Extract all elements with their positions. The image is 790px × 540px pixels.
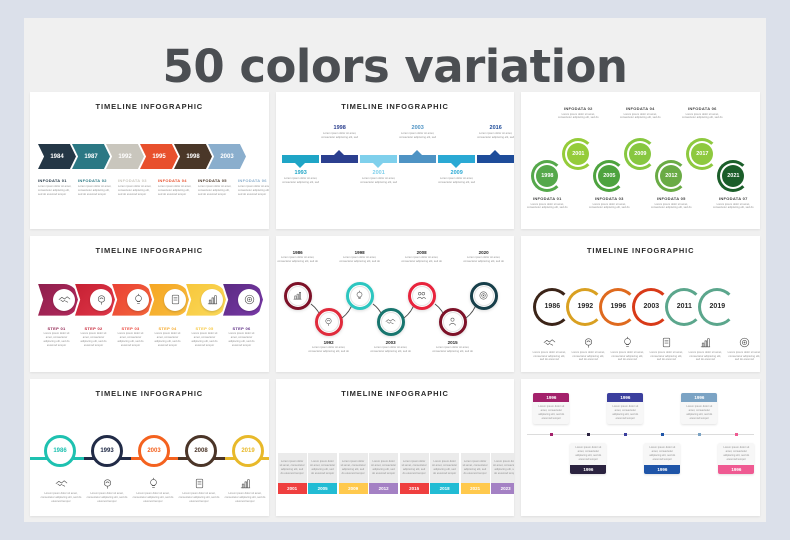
disc-year: 2005 — [603, 173, 615, 179]
bar-step[interactable] — [360, 155, 397, 163]
card-interlocking-rings-timeline[interactable]: TIMELINE INFOGRAPHIC 1986199219962003201… — [521, 236, 760, 373]
caption-label: INFODATA 01 — [524, 196, 570, 201]
bar-text: Lorem ipsum dolor sit amet, consectetur … — [320, 132, 360, 140]
line-ring-captions: Lorem ipsum dolor sit amet, consectetur … — [40, 477, 269, 504]
column-text: Lorem ipsum dolor sit amet, consectetur … — [371, 460, 396, 476]
disc-year: 2009 — [634, 151, 646, 157]
chevron-step[interactable]: 1992 — [106, 144, 144, 169]
bar-year: 2009 — [437, 170, 477, 176]
caption-label: INFODATA 06 — [679, 106, 725, 111]
bar-text: Lorem ipsum dolor sit amet, consectetur … — [437, 177, 477, 185]
ring-year: 2019 — [710, 303, 726, 310]
chevron-captions: INFODATA 01Lorem ipsum dolor sit amet, c… — [38, 178, 269, 197]
ribbon-step[interactable] — [112, 284, 152, 316]
ring-text: Lorem ipsum dolor sit amet, consectetur … — [132, 492, 174, 504]
timeline-dot — [735, 433, 738, 436]
bar-caption: 2016Lorem ipsum dolor sit amet, consecte… — [476, 125, 515, 140]
ribbon-row — [38, 284, 260, 316]
column-year: 2001 — [278, 483, 307, 494]
caption-label: INFODATA 05 — [648, 196, 694, 201]
line-ring[interactable]: 2003 — [138, 435, 170, 467]
caption-label: INFODATA 01 — [38, 178, 72, 183]
zigzag-node[interactable] — [470, 282, 498, 310]
document-icon — [169, 293, 182, 306]
line-ring[interactable]: 2019 — [232, 435, 264, 467]
chevron-year: 1992 — [118, 154, 131, 160]
step-label: STEP 05 — [188, 326, 221, 331]
ribbon-caption: STEP 04Lorem ipsum dolor sit amet, conse… — [151, 326, 184, 348]
zigzag-text: Lorem ipsum dolor sit amet, consectetur … — [463, 256, 505, 264]
ring-text: Lorem ipsum dolor sit amet, consectetur … — [726, 351, 760, 363]
chevron-step[interactable]: 1995 — [140, 144, 178, 169]
line-ring-caption: Lorem ipsum dolor sit amet, consectetur … — [40, 477, 82, 504]
caption-label: INFODATA 06 — [238, 178, 269, 183]
caption-text: Lorem ipsum dolor sit amet, consectetur … — [586, 203, 632, 211]
card-title: TIMELINE INFOGRAPHIC — [30, 389, 269, 398]
presentation-sheet: 50 colors variation TIMELINE INFOGRAPHIC… — [24, 18, 766, 522]
step-text: Lorem ipsum dolor sit amet, consectetur … — [40, 332, 73, 348]
caption-label: INFODATA 02 — [78, 178, 112, 183]
bar-text: Lorem ipsum dolor sit amet, consectetur … — [398, 132, 438, 140]
bubble-year: 1996 — [533, 393, 569, 402]
line-ring-caption: Lorem ipsum dolor sit amet, consectetur … — [178, 477, 220, 504]
card-green-circles-timeline[interactable]: 1998INFODATA 01Lorem ipsum dolor sit ame… — [521, 92, 760, 229]
timeline-dot — [624, 433, 627, 436]
chevron-year: 2003 — [220, 154, 233, 160]
column-step[interactable]: Lorem ipsum dolor sit amet, consectetur … — [369, 453, 398, 494]
zigzag-caption: 1998Lorem ipsum dolor sit amet, consecte… — [339, 250, 381, 264]
chart-icon — [292, 290, 303, 301]
bubble-text: Lorem ipsum dolor sit amet, consectetur … — [647, 446, 678, 462]
chevron-row: 198419871992199519982003 — [38, 144, 242, 169]
ring-text: Lorem ipsum dolor sit amet, consectetur … — [648, 351, 684, 363]
chevron-caption: INFODATA 03Lorem ipsum dolor sit amet, c… — [118, 178, 152, 197]
callout-bubble[interactable]: 1996Lorem ipsum dolor sit amet, consecte… — [607, 393, 643, 424]
target-icon — [738, 336, 751, 349]
bar-caption: 2009Lorem ipsum dolor sit amet, consecte… — [437, 170, 477, 185]
bar-step[interactable] — [399, 155, 436, 163]
ring-year: 2008 — [194, 448, 207, 454]
bar-step[interactable] — [477, 155, 514, 163]
column-year: 2018 — [430, 483, 459, 494]
zigzag-year: 1992 — [308, 340, 350, 345]
callout-bubble[interactable]: Lorem ipsum dolor sit amet, consectetur … — [570, 443, 606, 474]
step-label: STEP 04 — [151, 326, 184, 331]
bubble-year: 1996 — [644, 465, 680, 474]
zigzag-year: 1986 — [277, 250, 319, 255]
line-ring-caption: Lorem ipsum dolor sit amet, consectetur … — [224, 477, 266, 504]
ribbon-caption: STEP 01Lorem ipsum dolor sit amet, conse… — [40, 326, 73, 348]
disc-year: 2021 — [727, 173, 739, 179]
disc-year: 2012 — [665, 173, 677, 179]
lightbulb-icon — [132, 293, 145, 306]
card-title: TIMELINE INFOGRAPHIC — [521, 246, 760, 255]
handshake-icon — [55, 477, 68, 490]
column-step[interactable]: Lorem ipsum dolor sit amet, consectetur … — [278, 453, 307, 494]
ring-text: Lorem ipsum dolor sit amet, consectetur … — [224, 492, 266, 504]
step-text: Lorem ipsum dolor sit amet, consectetur … — [114, 332, 147, 348]
caption-text: Lorem ipsum dolor sit amet, consectetur … — [710, 203, 756, 211]
green-caption: INFODATA 02Lorem ipsum dolor sit amet, c… — [555, 106, 601, 120]
target-icon — [243, 293, 256, 306]
ring-caption: Lorem ipsum dolor sit amet, consectetur … — [726, 336, 760, 363]
ribbon-step[interactable] — [75, 284, 115, 316]
caption-text: Lorem ipsum dolor sit amet, consectetur … — [158, 185, 192, 197]
card-ribbon-steps[interactable]: TIMELINE INFOGRAPHIC STEP 01Lorem ipsum … — [30, 236, 269, 373]
column-step[interactable]: Lorem ipsum dolor sit amet, consectetur … — [461, 453, 490, 494]
bubble-text: Lorem ipsum dolor sit amet, consectetur … — [610, 405, 641, 421]
caption-text: Lorem ipsum dolor sit amet, consectetur … — [198, 185, 232, 197]
zigzag-text: Lorem ipsum dolor sit amet, consectetur … — [308, 346, 350, 354]
bar-year: 1998 — [320, 125, 360, 131]
infographic-grid: TIMELINE INFOGRAPHIC 1984198719921995199… — [30, 92, 760, 516]
column-row: Lorem ipsum dolor sit amet, consectetur … — [278, 453, 515, 494]
chart-icon — [206, 293, 219, 306]
disc-year: 1998 — [541, 173, 553, 179]
zigzag-caption: 2015Lorem ipsum dolor sit amet, consecte… — [432, 340, 474, 354]
disc-year: 2017 — [696, 151, 708, 157]
column-year: 2005 — [308, 483, 337, 494]
zigzag-year: 2003 — [370, 340, 412, 345]
brain-icon — [95, 293, 108, 306]
caption-text: Lorem ipsum dolor sit amet, consectetur … — [679, 113, 725, 121]
step-text: Lorem ipsum dolor sit amet, consectetur … — [225, 332, 258, 348]
zigzag-node[interactable] — [315, 308, 343, 336]
bar-year: 1993 — [281, 170, 321, 176]
zigzag-node[interactable] — [284, 282, 312, 310]
ring-text: Lorem ipsum dolor sit amet, consectetur … — [86, 492, 128, 504]
caption-label: INFODATA 07 — [710, 196, 756, 201]
ring-caption: Lorem ipsum dolor sit amet, consectetur … — [648, 336, 684, 363]
timeline-dot — [587, 433, 590, 436]
column-step[interactable]: Lorem ipsum dolor sit amet, consectetur … — [339, 453, 368, 494]
card-title: TIMELINE INFOGRAPHIC — [276, 102, 515, 111]
step-label: STEP 01 — [40, 326, 73, 331]
brain-icon — [101, 477, 114, 490]
zigzag-year: 2020 — [463, 250, 505, 255]
line-ring-caption: Lorem ipsum dolor sit amet, consectetur … — [132, 477, 174, 504]
green-caption: INFODATA 07Lorem ipsum dolor sit amet, c… — [710, 196, 756, 210]
team-icon — [416, 290, 427, 301]
ribbon-step[interactable] — [223, 284, 263, 316]
bar-year: 2003 — [398, 125, 438, 131]
ring-text: Lorem ipsum dolor sit amet, consectetur … — [178, 492, 220, 504]
chevron-year: 1998 — [186, 154, 199, 160]
bubble-year: 1996 — [681, 393, 717, 402]
ring-text: Lorem ipsum dolor sit amet, consectetur … — [687, 351, 723, 363]
column-step[interactable]: Lorem ipsum dolor sit amet, consectetur … — [430, 453, 459, 494]
card-title: TIMELINE INFOGRAPHIC — [276, 389, 515, 398]
zigzag-text: Lorem ipsum dolor sit amet, consectetur … — [432, 346, 474, 354]
caption-label: INFODATA 03 — [586, 196, 632, 201]
zigzag-year: 2008 — [401, 250, 443, 255]
open-ring[interactable]: 1992 — [566, 288, 604, 326]
card-zigzag-timeline[interactable]: 1986Lorem ipsum dolor sit amet, consecte… — [276, 236, 515, 373]
column-text: Lorem ipsum dolor sit amet, consectetur … — [280, 460, 305, 476]
card-column-timeline[interactable]: TIMELINE INFOGRAPHIC Lorem ipsum dolor s… — [276, 379, 515, 516]
column-text: Lorem ipsum dolor sit amet, consectetur … — [493, 460, 514, 476]
open-ring[interactable]: 1996 — [599, 288, 637, 326]
column-year: 2021 — [461, 483, 490, 494]
chevron-step[interactable]: 1987 — [72, 144, 110, 169]
column-year: 2009 — [339, 483, 368, 494]
caption-text: Lorem ipsum dolor sit amet, consectetur … — [38, 185, 72, 197]
ribbon-caption: STEP 06Lorem ipsum dolor sit amet, conse… — [225, 326, 258, 348]
ring-year: 1996 — [611, 303, 627, 310]
column-text: Lorem ipsum dolor sit amet, consectetur … — [463, 460, 488, 476]
ribbon-caption: STEP 03Lorem ipsum dolor sit amet, conse… — [114, 326, 147, 348]
zigzag-text: Lorem ipsum dolor sit amet, consectetur … — [277, 256, 319, 264]
card-bar-timeline[interactable]: TIMELINE INFOGRAPHIC 1993Lorem ipsum dol… — [276, 92, 515, 229]
chevron-step[interactable]: 1998 — [174, 144, 212, 169]
caption-text: Lorem ipsum dolor sit amet, consectetur … — [78, 185, 112, 197]
caption-label: INFODATA 04 — [158, 178, 192, 183]
bar-row — [282, 155, 514, 163]
bubble-text: Lorem ipsum dolor sit amet, consectetur … — [536, 405, 567, 421]
timeline-dot — [661, 433, 664, 436]
column-text: Lorem ipsum dolor sit amet, consectetur … — [341, 460, 366, 476]
zigzag-node[interactable] — [346, 282, 374, 310]
zigzag-node[interactable] — [408, 282, 436, 310]
zigzag-text: Lorem ipsum dolor sit amet, consectetur … — [370, 346, 412, 354]
caption-text: Lorem ipsum dolor sit amet, consectetur … — [238, 185, 269, 197]
chart-icon — [699, 336, 712, 349]
ring-caption: Lorem ipsum dolor sit amet, consectetur … — [609, 336, 645, 363]
bar-year: 2016 — [476, 125, 515, 131]
lightbulb-icon — [147, 477, 160, 490]
step-label: STEP 02 — [77, 326, 110, 331]
zigzag-text: Lorem ipsum dolor sit amet, consectetur … — [339, 256, 381, 264]
ribbon-step[interactable] — [149, 284, 189, 316]
bubble-year: 1996 — [607, 393, 643, 402]
ring-text: Lorem ipsum dolor sit amet, consectetur … — [570, 351, 606, 363]
ribbon-step[interactable] — [186, 284, 226, 316]
person-icon — [447, 316, 458, 327]
ring-text: Lorem ipsum dolor sit amet, consectetur … — [609, 351, 645, 363]
lightbulb-icon — [621, 336, 634, 349]
page-title: 50 colors variation — [24, 40, 766, 93]
zigzag-caption: 2003Lorem ipsum dolor sit amet, consecte… — [370, 340, 412, 354]
bar-caption: 1998Lorem ipsum dolor sit amet, consecte… — [320, 125, 360, 140]
zigzag-node[interactable] — [439, 308, 467, 336]
caption-text: Lorem ipsum dolor sit amet, consectetur … — [648, 203, 694, 211]
card-line-rings-timeline[interactable]: TIMELINE INFOGRAPHIC 1986199320032008201… — [30, 379, 269, 516]
callout-bubble[interactable]: 1996Lorem ipsum dolor sit amet, consecte… — [533, 393, 569, 424]
chevron-caption: INFODATA 01Lorem ipsum dolor sit amet, c… — [38, 178, 72, 197]
callout-bubble[interactable]: Lorem ipsum dolor sit amet, consectetur … — [644, 443, 680, 474]
brain-icon — [323, 316, 334, 327]
card-chevron-timeline[interactable]: TIMELINE INFOGRAPHIC 1984198719921995199… — [30, 92, 269, 229]
handshake-icon — [58, 293, 71, 306]
line-ring[interactable]: 1993 — [91, 435, 123, 467]
green-caption: INFODATA 01Lorem ipsum dolor sit amet, c… — [524, 196, 570, 210]
timeline-dot — [698, 433, 701, 436]
ring-caption: Lorem ipsum dolor sit amet, consectetur … — [531, 336, 567, 363]
green-caption: INFODATA 03Lorem ipsum dolor sit amet, c… — [586, 196, 632, 210]
step-label: STEP 03 — [114, 326, 147, 331]
caption-text: Lorem ipsum dolor sit amet, consectetur … — [118, 185, 152, 197]
ring-year: 2003 — [644, 303, 660, 310]
bar-caption: 2001Lorem ipsum dolor sit amet, consecte… — [359, 170, 399, 185]
column-text: Lorem ipsum dolor sit amet, consectetur … — [310, 460, 335, 476]
bubble-text: Lorem ipsum dolor sit amet, consectetur … — [684, 405, 715, 421]
zigzag-caption: 1992Lorem ipsum dolor sit amet, consecte… — [308, 340, 350, 354]
step-label: STEP 06 — [225, 326, 258, 331]
chevron-caption: INFODATA 02Lorem ipsum dolor sit amet, c… — [78, 178, 112, 197]
line-ring[interactable]: 1986 — [44, 435, 76, 467]
ribbon-captions: STEP 01Lorem ipsum dolor sit amet, conse… — [40, 326, 262, 348]
ribbon-caption: STEP 02Lorem ipsum dolor sit amet, conse… — [77, 326, 110, 348]
bar-caption: 2003Lorem ipsum dolor sit amet, consecte… — [398, 125, 438, 140]
caption-label: INFODATA 02 — [555, 106, 601, 111]
ring-year: 1992 — [578, 303, 594, 310]
caption-label: INFODATA 05 — [198, 178, 232, 183]
column-year: 2012 — [369, 483, 398, 494]
bar-step[interactable] — [438, 155, 475, 163]
ring-year: 1986 — [545, 303, 561, 310]
caption-label: INFODATA 03 — [118, 178, 152, 183]
column-step[interactable]: Lorem ipsum dolor sit amet, consectetur … — [400, 453, 429, 494]
brain-icon — [582, 336, 595, 349]
green-circle-chain: 1998INFODATA 01Lorem ipsum dolor sit ame… — [521, 92, 760, 229]
chevron-caption: INFODATA 04Lorem ipsum dolor sit amet, c… — [158, 178, 192, 197]
timeline-dot — [550, 433, 553, 436]
step-text: Lorem ipsum dolor sit amet, consectetur … — [77, 332, 110, 348]
chevron-step[interactable]: 1984 — [38, 144, 76, 169]
zigzag-node[interactable] — [377, 308, 405, 336]
zigzag-text: Lorem ipsum dolor sit amet, consectetur … — [401, 256, 443, 264]
bubble-text: Lorem ipsum dolor sit amet, consectetur … — [721, 446, 752, 462]
lightbulb-icon — [354, 290, 365, 301]
zigzag-caption: 1986Lorem ipsum dolor sit amet, consecte… — [277, 250, 319, 264]
chevron-year: 1984 — [50, 154, 63, 160]
ring-year: 1986 — [53, 448, 66, 454]
ring-text: Lorem ipsum dolor sit amet, consectetur … — [531, 351, 567, 363]
bubble-text: Lorem ipsum dolor sit amet, consectetur … — [573, 446, 604, 462]
card-title: TIMELINE INFOGRAPHIC — [30, 102, 269, 111]
green-caption: INFODATA 05Lorem ipsum dolor sit amet, c… — [648, 196, 694, 210]
column-year: 2015 — [400, 483, 429, 494]
bar-year: 2001 — [359, 170, 399, 176]
disc-year: 2001 — [572, 151, 584, 157]
column-year: 2023 — [491, 483, 514, 494]
bar-text: Lorem ipsum dolor sit amet, consectetur … — [281, 177, 321, 185]
chevron-caption: INFODATA 06Lorem ipsum dolor sit amet, c… — [238, 178, 269, 197]
step-text: Lorem ipsum dolor sit amet, consectetur … — [151, 332, 184, 348]
zigzag-caption: 2008Lorem ipsum dolor sit amet, consecte… — [401, 250, 443, 264]
callout-bubble[interactable]: 1996Lorem ipsum dolor sit amet, consecte… — [681, 393, 717, 424]
ring-year: 2011 — [677, 303, 692, 310]
caption-label: INFODATA 04 — [617, 106, 663, 111]
bar-step[interactable] — [321, 155, 358, 163]
timeline-line — [527, 434, 754, 435]
bar-text: Lorem ipsum dolor sit amet, consectetur … — [476, 132, 515, 140]
zigzag-year: 1998 — [339, 250, 381, 255]
bar-text: Lorem ipsum dolor sit amet, consectetur … — [359, 177, 399, 185]
ring-text: Lorem ipsum dolor sit amet, consectetur … — [40, 492, 82, 504]
ring-year: 2019 — [241, 448, 254, 454]
caption-text: Lorem ipsum dolor sit amet, consectetur … — [524, 203, 570, 211]
chevron-year: 1995 — [152, 154, 165, 160]
document-icon — [193, 477, 206, 490]
column-step[interactable]: Lorem ipsum dolor sit amet, consectetur … — [308, 453, 337, 494]
callout-bubble[interactable]: Lorem ipsum dolor sit amet, consectetur … — [718, 443, 754, 474]
ring-year: 1993 — [100, 448, 113, 454]
caption-text: Lorem ipsum dolor sit amet, consectetur … — [617, 113, 663, 121]
target-icon — [478, 290, 489, 301]
ring-year: 2003 — [147, 448, 160, 454]
caption-text: Lorem ipsum dolor sit amet, consectetur … — [555, 113, 601, 121]
column-text: Lorem ipsum dolor sit amet, consectetur … — [432, 460, 457, 476]
bar-caption: 1993Lorem ipsum dolor sit amet, consecte… — [281, 170, 321, 185]
chevron-caption: INFODATA 05Lorem ipsum dolor sit amet, c… — [198, 178, 232, 197]
line-ring-caption: Lorem ipsum dolor sit amet, consectetur … — [86, 477, 128, 504]
document-icon — [660, 336, 673, 349]
handshake-icon — [385, 316, 396, 327]
bubble-year: 1996 — [718, 465, 754, 474]
handshake-icon — [543, 336, 556, 349]
line-ring[interactable]: 2008 — [185, 435, 217, 467]
zigzag-caption: 2020Lorem ipsum dolor sit amet, consecte… — [463, 250, 505, 264]
ribbon-step[interactable] — [38, 284, 78, 316]
open-ring[interactable]: 1986 — [533, 288, 571, 326]
ring-captions: Lorem ipsum dolor sit amet, consectetur … — [531, 336, 760, 363]
zigzag-year: 2015 — [432, 340, 474, 345]
chevron-step[interactable]: 2003 — [208, 144, 246, 169]
ring-caption: Lorem ipsum dolor sit amet, consectetur … — [570, 336, 606, 363]
chart-icon — [239, 477, 252, 490]
green-caption: INFODATA 04Lorem ipsum dolor sit amet, c… — [617, 106, 663, 120]
green-caption: INFODATA 06Lorem ipsum dolor sit amet, c… — [679, 106, 725, 120]
ring-caption: Lorem ipsum dolor sit amet, consectetur … — [687, 336, 723, 363]
bar-step[interactable] — [282, 155, 319, 163]
chevron-year: 1987 — [84, 154, 97, 160]
open-ring[interactable]: 2003 — [632, 288, 670, 326]
bubble-year: 1996 — [570, 465, 606, 474]
step-text: Lorem ipsum dolor sit amet, consectetur … — [188, 332, 221, 348]
card-title: TIMELINE INFOGRAPHIC — [30, 246, 269, 255]
ribbon-caption: STEP 05Lorem ipsum dolor sit amet, conse… — [188, 326, 221, 348]
column-step[interactable]: Lorem ipsum dolor sit amet, consectetur … — [491, 453, 514, 494]
open-ring[interactable]: 2019 — [698, 288, 736, 326]
card-bubble-timeline[interactable]: 1996Lorem ipsum dolor sit amet, consecte… — [521, 379, 760, 516]
column-text: Lorem ipsum dolor sit amet, consectetur … — [402, 460, 427, 476]
open-ring[interactable]: 2011 — [665, 288, 703, 326]
